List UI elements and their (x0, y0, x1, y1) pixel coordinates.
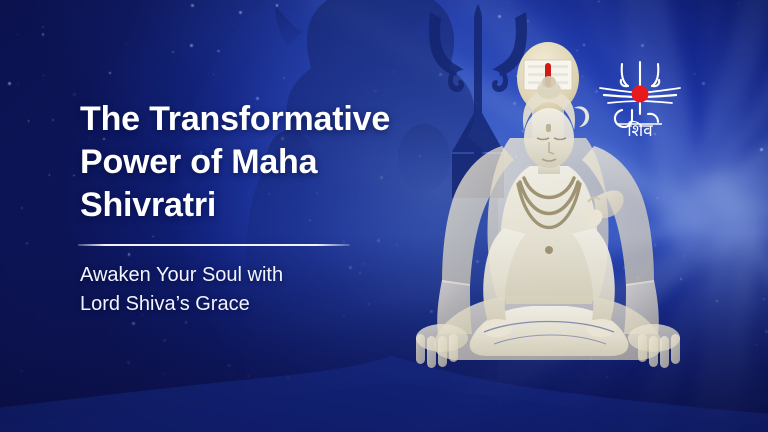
maha-shivratri-banner: शिव The Transformative Power of Maha Shi… (0, 0, 768, 432)
title-divider (78, 244, 350, 246)
page-subtitle: Awaken Your Soul with Lord Shiva’s Grace (80, 261, 450, 318)
bindu-dot (632, 86, 649, 103)
title-line-1: The Transformative (80, 98, 450, 141)
title-line-2: Power of Maha (80, 141, 450, 184)
subtitle-line-1: Awaken Your Soul with (80, 261, 450, 289)
title-line-3: Shivratri (80, 184, 450, 227)
logo-script-text: शिव (627, 120, 653, 141)
text-block: The Transformative Power of Maha Shivrat… (80, 98, 450, 318)
page-title: The Transformative Power of Maha Shivrat… (80, 98, 450, 226)
subtitle-line-2: Lord Shiva’s Grace (80, 290, 450, 318)
trishul-logo: शिव (592, 48, 688, 144)
